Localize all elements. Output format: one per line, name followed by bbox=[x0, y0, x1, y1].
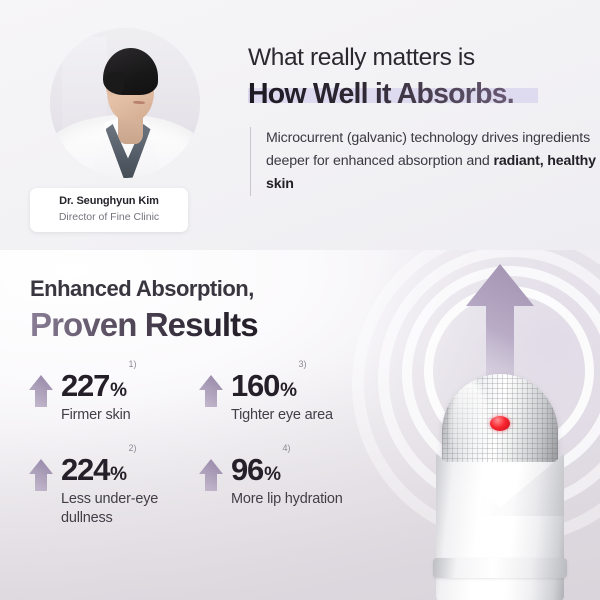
stat-value: 227 bbox=[61, 370, 109, 401]
stat-label: Firmer skin bbox=[61, 406, 198, 424]
headline-line-1: What really matters is bbox=[248, 44, 578, 73]
stat-item-firmer-skin: 227 % 1) Firmer skin bbox=[28, 370, 198, 424]
absorption-up-arrow-icon bbox=[464, 262, 536, 378]
stat-item-under-eye-dullness: 224 % 2) Less under-eye dullness bbox=[28, 454, 198, 527]
device-white-body bbox=[436, 462, 564, 600]
stat-label: Less under-eye dullness bbox=[61, 490, 198, 527]
stat-figure: 224 % 2) bbox=[61, 454, 198, 485]
product-device-illustration bbox=[398, 250, 600, 600]
stat-figure: 227 % 1) bbox=[61, 370, 198, 401]
results-heading-block: Enhanced Absorption, Proven Results bbox=[30, 276, 258, 346]
stat-item-lip-hydration: 96 % 4) More lip hydration bbox=[198, 454, 368, 527]
stat-value: 224 bbox=[61, 454, 109, 485]
results-heading-line-1: Enhanced Absorption, bbox=[30, 276, 258, 302]
stat-footnote-marker: 1) bbox=[129, 360, 137, 369]
doctor-credential-card: Dr. Seunghyun Kim Director of Fine Clini… bbox=[30, 188, 188, 232]
body-copy: Microcurrent (galvanic) technology drive… bbox=[250, 127, 596, 196]
up-arrow-icon bbox=[198, 374, 224, 408]
device-body-ring bbox=[433, 558, 567, 578]
doctor-role: Director of Fine Clinic bbox=[38, 210, 180, 224]
stat-label: More lip hydration bbox=[231, 490, 368, 508]
red-indicator-light-icon bbox=[490, 416, 510, 431]
stat-figure: 96 % 4) bbox=[231, 454, 368, 485]
up-arrow-icon bbox=[28, 458, 54, 492]
stat-value: 160 bbox=[231, 370, 279, 401]
stat-unit: % bbox=[110, 465, 126, 484]
doctor-name: Dr. Seunghyun Kim bbox=[38, 195, 180, 209]
statistics-row-2: 224 % 2) Less under-eye dullness bbox=[28, 454, 388, 527]
stat-footnote-marker: 3) bbox=[299, 360, 307, 369]
stat-value: 96 bbox=[231, 454, 263, 485]
stat-body: 96 % 4) More lip hydration bbox=[231, 454, 368, 508]
stat-footnote-marker: 4) bbox=[283, 444, 291, 453]
doctor-portrait-photo bbox=[50, 28, 200, 178]
stat-unit: % bbox=[280, 381, 296, 400]
stat-body: 224 % 2) Less under-eye dullness bbox=[61, 454, 198, 527]
stat-unit: % bbox=[264, 465, 280, 484]
top-hero-section: Dr. Seunghyun Kim Director of Fine Clini… bbox=[0, 0, 600, 250]
statistics-grid: 227 % 1) Firmer skin bbox=[28, 370, 388, 527]
results-section: Enhanced Absorption, Proven Results bbox=[0, 250, 600, 600]
promo-infographic: Dr. Seunghyun Kim Director of Fine Clini… bbox=[0, 0, 600, 600]
stat-unit: % bbox=[110, 381, 126, 400]
stat-body: 227 % 1) Firmer skin bbox=[61, 370, 198, 424]
stats-row-spacer bbox=[28, 424, 388, 454]
headline-block: What really matters is How Well it Absor… bbox=[248, 44, 578, 111]
results-heading-line-2: Proven Results bbox=[30, 305, 258, 345]
stat-figure: 160 % 3) bbox=[231, 370, 368, 401]
up-arrow-icon bbox=[28, 374, 54, 408]
up-arrow-icon bbox=[198, 458, 224, 492]
device-body-notch bbox=[436, 454, 564, 516]
headline-line-2: How Well it Absorbs. bbox=[248, 77, 514, 111]
stat-body: 160 % 3) Tighter eye area bbox=[231, 370, 368, 424]
statistics-row-1: 227 % 1) Firmer skin bbox=[28, 370, 388, 424]
stat-footnote-marker: 2) bbox=[129, 444, 137, 453]
stat-item-tighter-eye-area: 160 % 3) Tighter eye area bbox=[198, 370, 368, 424]
stat-label: Tighter eye area bbox=[231, 406, 368, 424]
